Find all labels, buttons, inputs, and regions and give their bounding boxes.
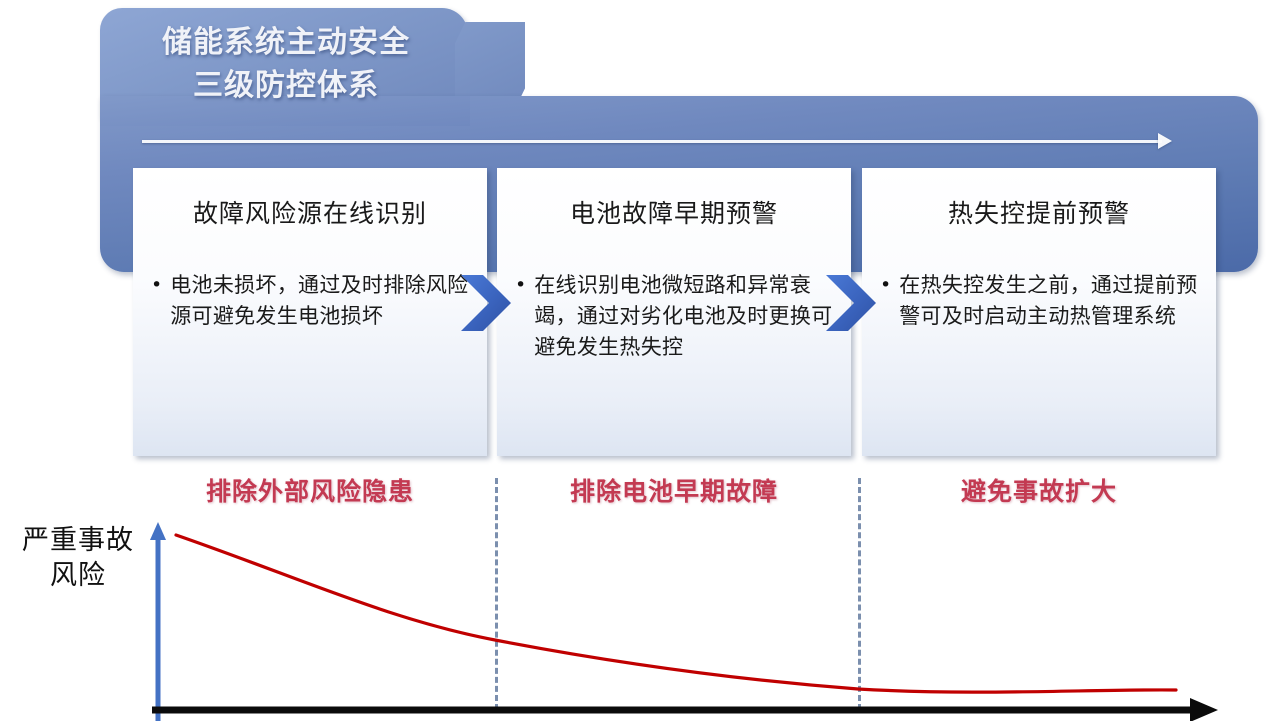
chevron-right-icon [824, 272, 882, 334]
right-arrow-icon [1158, 133, 1172, 149]
stage-2-title: 电池故障早期预警 [497, 194, 851, 230]
bullet-dot-icon: • [151, 270, 162, 301]
page-title: 储能系统主动安全 三级防控体系 [118, 22, 454, 107]
chevron-right-icon [459, 272, 517, 334]
progress-arrow-line [142, 140, 1162, 143]
banner-tab-corner [455, 8, 525, 108]
stage-3-title: 热失控提前预警 [862, 194, 1216, 230]
stage-1-bullet-row: • 电池未损坏，通过及时排除风险源可避免发生电池损坏 [151, 270, 475, 332]
chart-y-axis [150, 522, 166, 721]
stage-panel-1[interactable]: 故障风险源在线识别 • 电池未损坏，通过及时排除风险源可避免发生电池损坏 [133, 168, 487, 456]
stage-2-bullet-text: 在线识别电池微短路和异常衰竭，通过对劣化电池及时更换可避免发生热失控 [534, 270, 839, 363]
chart-x-axis [152, 698, 1218, 721]
stage-panel-2[interactable]: 电池故障早期预警 • 在线识别电池微短路和异常衰竭，通过对劣化电池及时更换可避免… [497, 168, 851, 456]
stage-2-bullet-row: • 在线识别电池微短路和异常衰竭，通过对劣化电池及时更换可避免发生热失控 [515, 270, 839, 363]
stage-1-bullet-text: 电池未损坏，通过及时排除风险源可避免发生电池损坏 [170, 270, 475, 332]
slide-canvas: 储能系统主动安全 三级防控体系 故障风险源在线识别 • 电池未损坏，通过及时排除… [0, 0, 1269, 721]
stage-3-bullet-row: • 在热失控发生之前，通过提前预警可及时启动主动热管理系统 [880, 270, 1204, 332]
stage-3-bullet-text: 在热失控发生之前，通过提前预警可及时启动主动热管理系统 [899, 270, 1204, 332]
risk-decay-chart [0, 500, 1269, 721]
stage-1-title: 故障风险源在线识别 [133, 194, 487, 230]
stage-panel-3[interactable]: 热失控提前预警 • 在热失控发生之前，通过提前预警可及时启动主动热管理系统 [862, 168, 1216, 456]
risk-curve [176, 535, 1176, 692]
